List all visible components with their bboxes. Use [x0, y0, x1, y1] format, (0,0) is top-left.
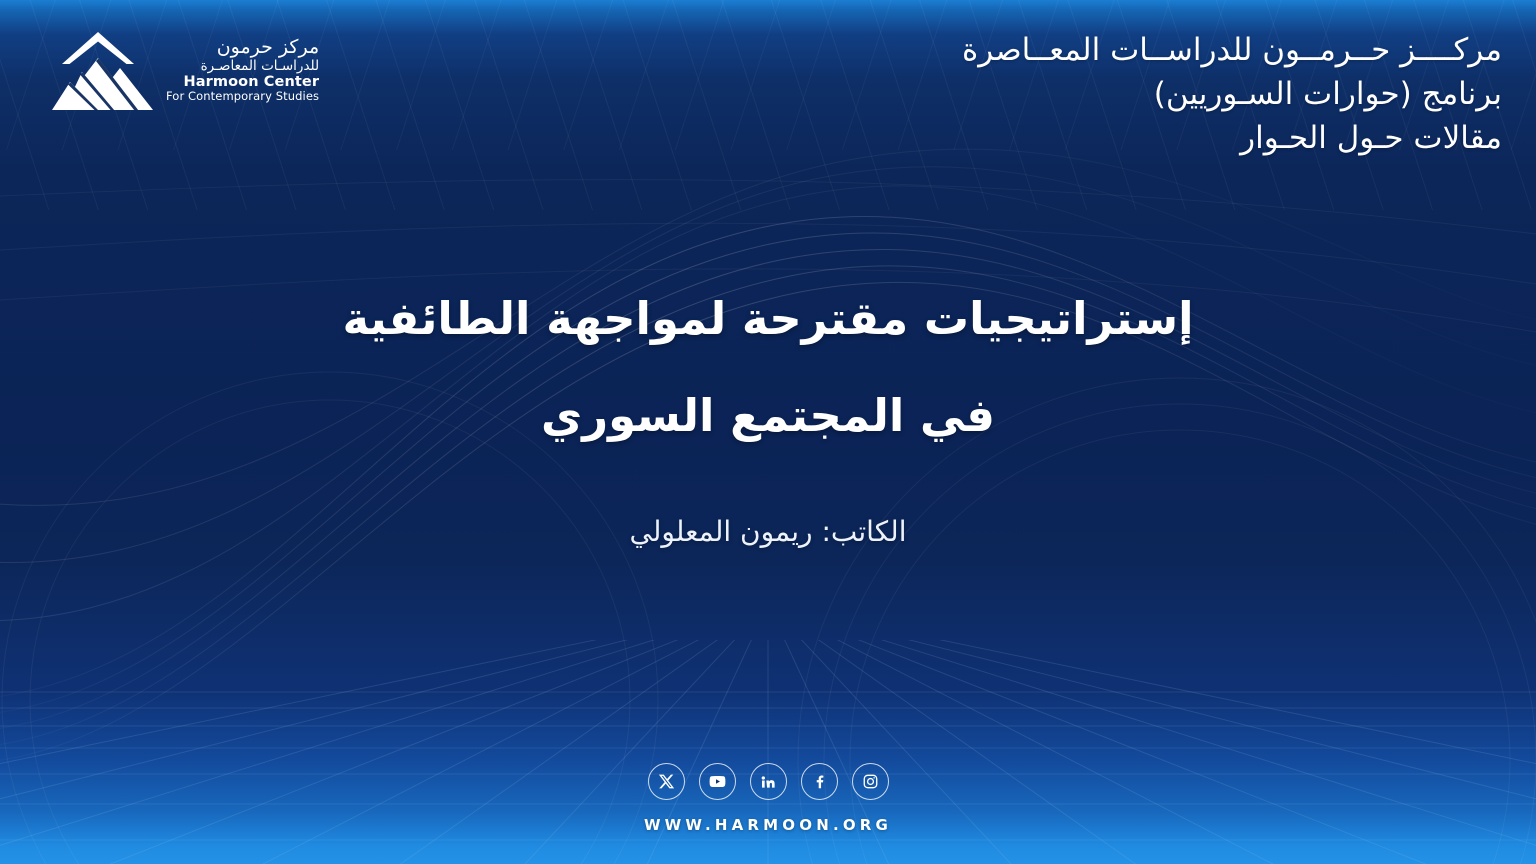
header-program-info: مركــــز حــرمــون للدراســات المعــاصرة… [962, 28, 1502, 160]
instagram-icon[interactable] [852, 763, 889, 800]
logo-english-name: Harmoon Center [166, 75, 319, 90]
x-twitter-icon[interactable] [648, 763, 685, 800]
logo-english-subtitle: For Contemporary Studies [166, 90, 319, 102]
logo-arabic-subtitle: للدراسـات المعاصـرة [166, 59, 319, 73]
logo-text-block: مركز حرمون للدراسـات المعاصـرة Harmoon C… [166, 38, 319, 104]
slide-canvas: مركز حرمون للدراسـات المعاصـرة Harmoon C… [0, 0, 1536, 864]
header-line-section: مقالات حـول الحـوار [962, 116, 1502, 160]
mountain-peaks-logo-icon [42, 30, 154, 112]
website-url[interactable]: WWW.HARMOON.ORG [0, 816, 1536, 834]
header-line-center-name: مركــــز حــرمــون للدراســات المعــاصرة [962, 28, 1502, 72]
header-line-program: برنامج (حوارات السـوريين) [962, 72, 1502, 116]
title-line-1: إستراتيجيات مقترحة لمواجهة الطائفية [0, 296, 1536, 341]
youtube-icon[interactable] [699, 763, 736, 800]
harmoon-logo[interactable]: مركز حرمون للدراسـات المعاصـرة Harmoon C… [42, 30, 319, 112]
title-line-2: في المجتمع السوري [0, 393, 1536, 438]
logo-arabic-name: مركز حرمون [166, 38, 319, 58]
facebook-icon[interactable] [801, 763, 838, 800]
author-byline: الكاتب: ريمون المعلولي [0, 515, 1536, 548]
social-links [0, 763, 1536, 800]
slide-title: إستراتيجيات مقترحة لمواجهة الطائفية في ا… [0, 296, 1536, 438]
linkedin-icon[interactable] [750, 763, 787, 800]
